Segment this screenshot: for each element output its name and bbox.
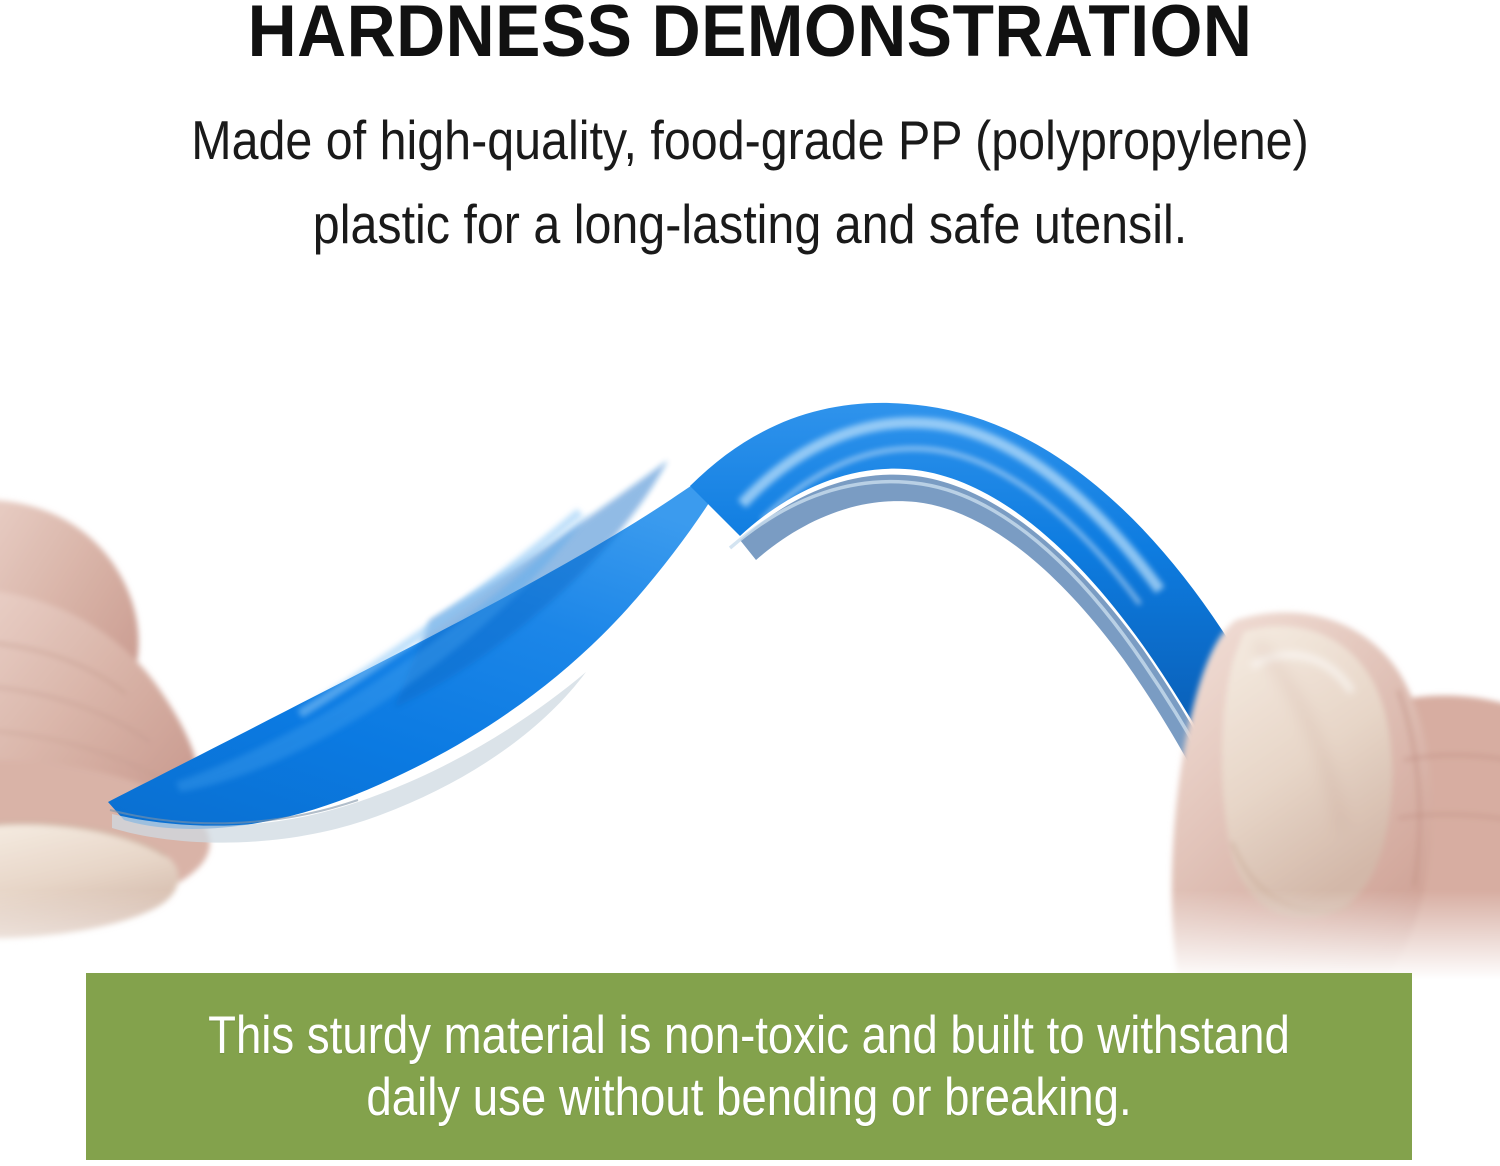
callout-banner-text: This sturdy material is non-toxic and bu… xyxy=(179,1005,1319,1129)
banner-line-1: This sturdy material is non-toxic and bu… xyxy=(179,1005,1319,1067)
subtitle-block: Made of high-quality, food-grade PP (pol… xyxy=(90,98,1410,266)
banner-line-2: daily use without bending or breaking. xyxy=(179,1067,1319,1129)
page-title: HARDNESS DEMONSTRATION xyxy=(53,0,1448,73)
product-photo xyxy=(0,290,1500,980)
product-feature-image: HARDNESS DEMONSTRATION Made of high-qual… xyxy=(0,0,1500,1166)
subtitle-line-2: plastic for a long-lasting and safe uten… xyxy=(90,182,1410,266)
subtitle-line-1: Made of high-quality, food-grade PP (pol… xyxy=(90,98,1410,182)
callout-banner: This sturdy material is non-toxic and bu… xyxy=(86,973,1412,1160)
